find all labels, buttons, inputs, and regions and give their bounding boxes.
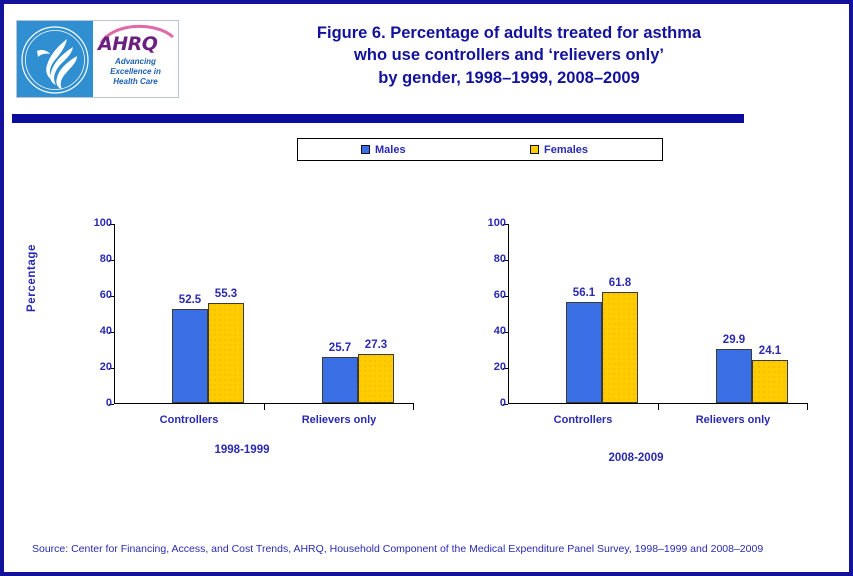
figure-title: Figure 6. Percentage of adults treated f… bbox=[189, 22, 829, 89]
bar-value-label: 61.8 bbox=[597, 277, 643, 289]
bar-females-controllers bbox=[208, 303, 244, 403]
plot-area: 020406080100 52.555.325.727.3 Controller… bbox=[114, 224, 414, 404]
bar-females-relievers-only bbox=[752, 360, 788, 403]
figure-header: AHRQ Advancing Excellence in Health Care… bbox=[4, 4, 849, 104]
category-label-controllers: Controllers bbox=[523, 414, 643, 426]
chart-caption-1998-1999: 1998-1999 bbox=[66, 444, 418, 456]
figure-page: AHRQ Advancing Excellence in Health Care… bbox=[0, 0, 853, 576]
bar-value-label: 24.1 bbox=[747, 345, 793, 357]
y-tick-label: 100 bbox=[466, 217, 506, 229]
agency-logo: AHRQ Advancing Excellence in Health Care bbox=[16, 20, 179, 98]
bar-males-controllers bbox=[172, 309, 208, 404]
ahrq-wordmark: AHRQ Advancing Excellence in Health Care bbox=[93, 21, 178, 97]
legend-label-males: Males bbox=[375, 144, 406, 156]
source-note: Source: Center for Financing, Access, an… bbox=[32, 542, 832, 556]
ahrq-tagline-line-2: Excellence in bbox=[93, 67, 178, 77]
y-tick-label: 60 bbox=[466, 289, 506, 301]
figure-title-line-1: Figure 6. Percentage of adults treated f… bbox=[189, 22, 829, 44]
y-tick-label: 80 bbox=[466, 253, 506, 265]
header-divider bbox=[12, 114, 744, 123]
figure-title-line-2: who use controllers and ‘relievers only’ bbox=[189, 44, 829, 66]
chart-1998-1999: 020406080100 52.555.325.727.3 Controller… bbox=[66, 216, 418, 416]
y-axis-line bbox=[508, 224, 509, 404]
y-tick-label: 40 bbox=[466, 325, 506, 337]
y-tick-label: 0 bbox=[72, 397, 112, 409]
bar-males-relievers-only bbox=[716, 349, 752, 403]
chart-2008-2009: 020406080100 56.161.829.924.1 Controller… bbox=[460, 216, 812, 416]
y-tick-label: 80 bbox=[72, 253, 112, 265]
category-label-relievers: Relievers only bbox=[673, 414, 793, 426]
chart-caption-2008-2009: 2008-2009 bbox=[460, 452, 812, 464]
category-label-controllers: Controllers bbox=[129, 414, 249, 426]
category-label-relievers: Relievers only bbox=[279, 414, 399, 426]
ahrq-tagline-line-1: Advancing bbox=[93, 57, 178, 67]
bar-females-relievers-only bbox=[358, 354, 394, 403]
y-tick-label: 100 bbox=[72, 217, 112, 229]
y-axis-line bbox=[114, 224, 115, 404]
x-axis-end-tick bbox=[807, 404, 808, 410]
ahrq-tagline: Advancing Excellence in Health Care bbox=[93, 57, 178, 88]
category-separator bbox=[658, 404, 659, 410]
chart-legend: Males Females bbox=[297, 138, 663, 161]
bar-males-controllers bbox=[566, 302, 602, 403]
bar-males-relievers-only bbox=[322, 357, 358, 403]
y-tick-label: 40 bbox=[72, 325, 112, 337]
bar-value-label: 55.3 bbox=[203, 288, 249, 300]
legend-swatch-males bbox=[361, 145, 370, 154]
ahrq-tagline-line-3: Health Care bbox=[93, 77, 178, 87]
bar-value-label: 27.3 bbox=[353, 339, 399, 351]
hhs-seal-icon bbox=[17, 21, 93, 97]
legend-label-females: Females bbox=[544, 144, 588, 156]
y-tick-label: 0 bbox=[466, 397, 506, 409]
legend-swatch-females bbox=[530, 145, 539, 154]
legend-item-females: Females bbox=[530, 144, 588, 156]
bar-value-label: 56.1 bbox=[561, 287, 607, 299]
category-separator bbox=[264, 404, 265, 410]
y-tick-label: 20 bbox=[466, 361, 506, 373]
legend-item-males: Males bbox=[361, 144, 406, 156]
figure-title-line-3: by gender, 1998–1999, 2008–2009 bbox=[189, 67, 829, 89]
y-tick-label: 20 bbox=[72, 361, 112, 373]
bar-females-controllers bbox=[602, 292, 638, 403]
y-tick-label: 60 bbox=[72, 289, 112, 301]
x-axis-end-tick bbox=[413, 404, 414, 410]
y-axis-title: Percentage bbox=[26, 228, 38, 328]
plot-area: 020406080100 56.161.829.924.1 Controller… bbox=[508, 224, 808, 404]
ahrq-letters: AHRQ bbox=[98, 35, 174, 54]
